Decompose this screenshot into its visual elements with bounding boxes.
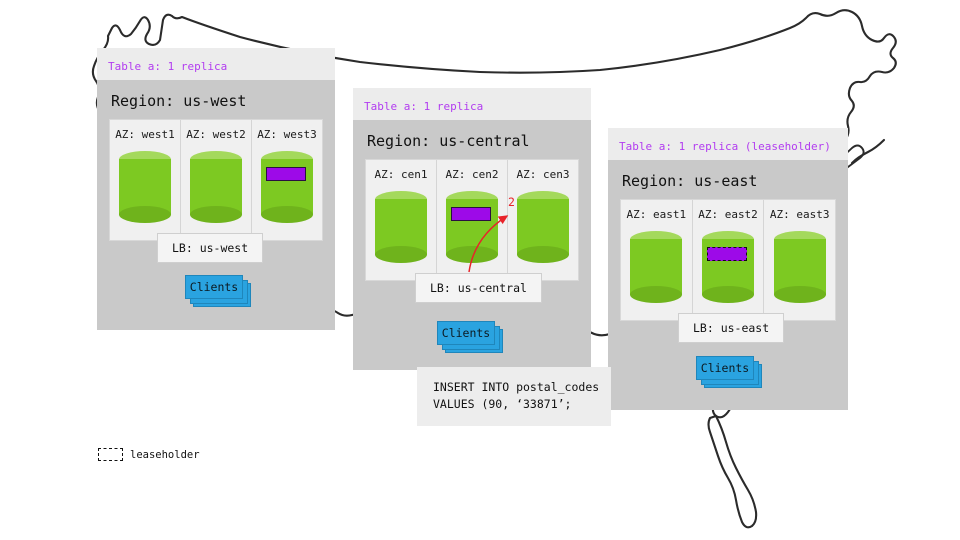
- cylinder-bottom: [774, 286, 826, 303]
- region-panel-us-east: Table a: 1 replica (leaseholder) Region:…: [608, 128, 848, 410]
- region-title-us-central: Region: us-central: [353, 120, 591, 159]
- az-label-west3: AZ: west3: [252, 128, 322, 141]
- legend-leaseholder: leaseholder: [98, 448, 200, 461]
- replica-marker-leaseholder-east2[interactable]: [707, 247, 747, 261]
- cylinder-bottom: [261, 206, 313, 223]
- node-cylinder-cen2[interactable]: [446, 191, 498, 263]
- load-balancer-us-central[interactable]: LB: us-central: [415, 273, 542, 303]
- region-panel-us-west: Table a: 1 replica Region: us-west AZ: w…: [97, 48, 335, 330]
- az-cell-cen2[interactable]: AZ: cen2: [436, 160, 507, 280]
- clients-button-us-central[interactable]: Clients: [437, 321, 495, 345]
- region-title-us-east: Region: us-east: [608, 160, 848, 199]
- az-label-east3: AZ: east3: [764, 208, 835, 221]
- region-replica-label: Table a: 1 replica: [364, 100, 483, 113]
- node-cylinder-east3[interactable]: [774, 231, 826, 303]
- cylinder-bottom: [702, 286, 754, 303]
- clients-stack-us-east[interactable]: Clients: [696, 356, 762, 388]
- dashed-rect-icon: [98, 448, 123, 461]
- region-header-us-east: Table a: 1 replica (leaseholder): [608, 128, 848, 160]
- az-label-cen2: AZ: cen2: [437, 168, 507, 181]
- clients-stack-us-central[interactable]: Clients: [437, 321, 503, 353]
- sql-statement-box: INSERT INTO postal_codes VALUES (90, ‘33…: [417, 367, 611, 426]
- node-cylinder-east2[interactable]: [702, 231, 754, 303]
- az-strip-us-east: AZ: east1 AZ: east2 AZ: east3: [620, 199, 836, 321]
- clients-button-us-east[interactable]: Clients: [696, 356, 754, 380]
- cylinder-bottom: [517, 246, 569, 263]
- replica-marker-west3[interactable]: [266, 167, 306, 181]
- node-cylinder-east1[interactable]: [630, 231, 682, 303]
- region-replica-label: Table a: 1 replica (leaseholder): [619, 140, 831, 153]
- node-cylinder-cen1[interactable]: [375, 191, 427, 263]
- az-label-east2: AZ: east2: [693, 208, 764, 221]
- az-cell-east3[interactable]: AZ: east3: [763, 200, 835, 320]
- region-header-us-west: Table a: 1 replica: [97, 48, 335, 80]
- node-cylinder-west1[interactable]: [119, 151, 171, 223]
- clients-button-us-west[interactable]: Clients: [185, 275, 243, 299]
- legend-label: leaseholder: [130, 449, 200, 461]
- load-balancer-us-west[interactable]: LB: us-west: [157, 233, 263, 263]
- node-cylinder-west2[interactable]: [190, 151, 242, 223]
- replica-marker-cen2[interactable]: [451, 207, 491, 221]
- clients-stack-us-west[interactable]: Clients: [185, 275, 251, 307]
- az-label-cen1: AZ: cen1: [366, 168, 436, 181]
- cylinder-bottom: [190, 206, 242, 223]
- node-cylinder-cen3[interactable]: [517, 191, 569, 263]
- load-balancer-us-east[interactable]: LB: us-east: [678, 313, 784, 343]
- cylinder-bottom: [375, 246, 427, 263]
- node-cylinder-west3[interactable]: [261, 151, 313, 223]
- region-header-us-central: Table a: 1 replica: [353, 88, 591, 120]
- az-cell-east1[interactable]: AZ: east1: [621, 200, 692, 320]
- region-replica-label: Table a: 1 replica: [108, 60, 227, 73]
- diagram-canvas: Table a: 1 replica Region: us-west AZ: w…: [0, 0, 960, 540]
- az-cell-cen1[interactable]: AZ: cen1: [366, 160, 436, 280]
- az-strip-us-west: AZ: west1 AZ: west2 AZ: west3: [109, 119, 323, 241]
- az-cell-east2[interactable]: AZ: east2: [692, 200, 764, 320]
- cylinder-bottom: [119, 206, 171, 223]
- az-label-east1: AZ: east1: [621, 208, 692, 221]
- az-label-cen3: AZ: cen3: [508, 168, 578, 181]
- az-cell-west1[interactable]: AZ: west1: [110, 120, 180, 240]
- region-title-us-west: Region: us-west: [97, 80, 335, 119]
- region-panel-us-central: Table a: 1 replica Region: us-central AZ…: [353, 88, 591, 370]
- az-label-west1: AZ: west1: [110, 128, 180, 141]
- az-strip-us-central: AZ: cen1 AZ: cen2 AZ: cen3: [365, 159, 579, 281]
- cylinder-bottom: [446, 246, 498, 263]
- az-cell-west3[interactable]: AZ: west3: [251, 120, 322, 240]
- az-label-west2: AZ: west2: [181, 128, 251, 141]
- az-cell-west2[interactable]: AZ: west2: [180, 120, 251, 240]
- cylinder-bottom: [630, 286, 682, 303]
- az-cell-cen3[interactable]: AZ: cen3: [507, 160, 578, 280]
